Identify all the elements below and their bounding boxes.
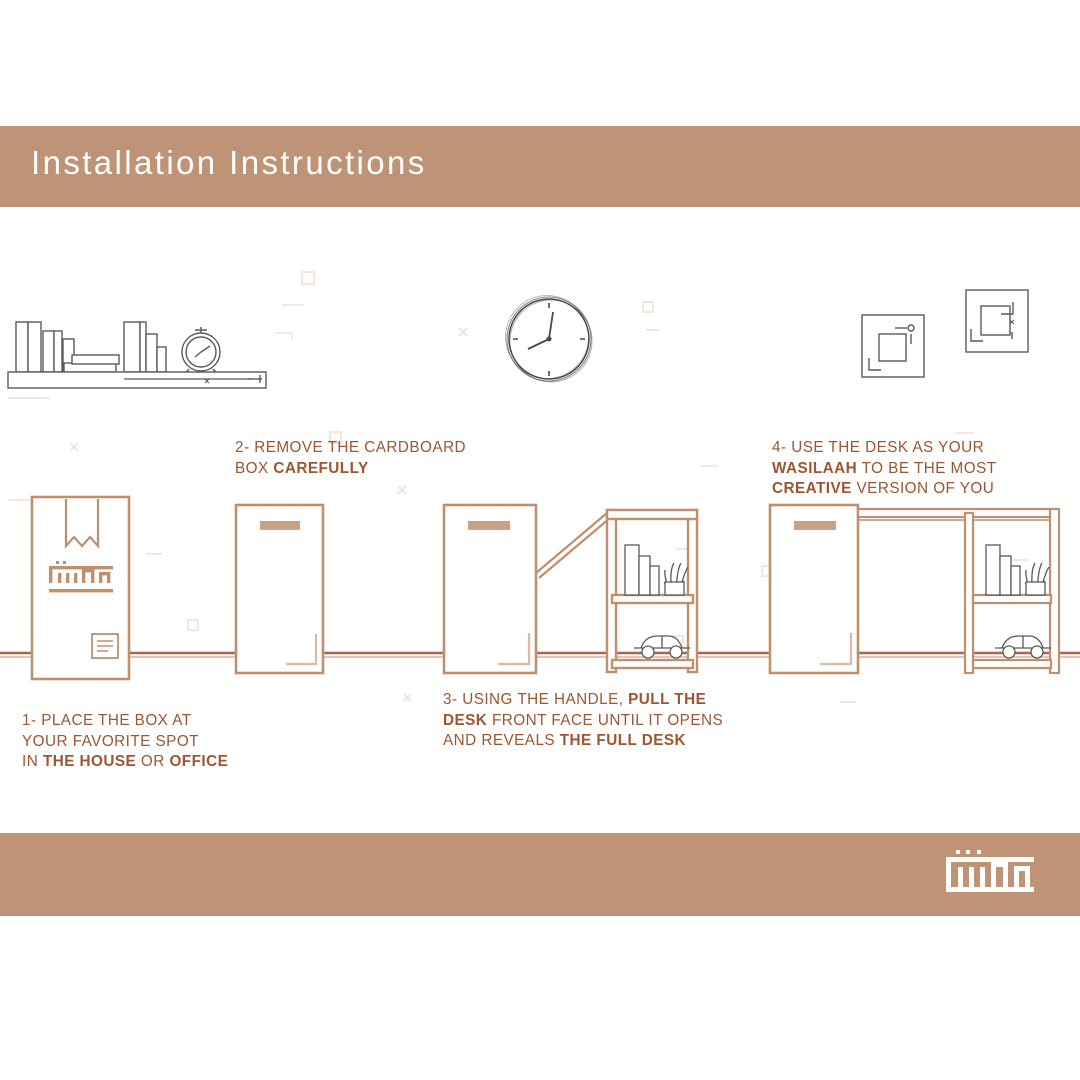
caption-emphasis: OFFICE	[169, 753, 228, 770]
caption-emphasis: THE HOUSE	[43, 753, 136, 770]
page-title: Installation Instructions	[31, 144, 427, 182]
caption-emphasis: CAREFULLY	[273, 460, 368, 477]
picture-frames-illustration	[862, 290, 1028, 377]
infographic-page: Installation Instructions 1- PLACE THE B…	[0, 0, 1080, 1080]
step-1-caption: 1- PLACE THE BOX AT YOUR FAVORITE SPOT I…	[22, 711, 322, 773]
wall-clock-illustration	[506, 296, 593, 383]
caption-text: VERSION OF YOU	[852, 480, 994, 497]
step-2-caption: 2- REMOVE THE CARDBOARD BOX CAREFULLY	[235, 438, 535, 479]
wasilaah-logo	[944, 847, 1036, 902]
caption-text: OR	[136, 753, 169, 770]
wall-shelf-illustration	[8, 322, 266, 388]
caption-emphasis: WASILAAH	[772, 460, 857, 477]
desk-closed-illustration	[236, 505, 323, 673]
caption-emphasis: CREATIVE	[772, 480, 852, 497]
caption-text: 4- USE THE DESK AS YOUR	[772, 439, 984, 456]
cardboard-box-illustration	[32, 497, 129, 679]
caption-text: TO BE THE MOST	[857, 460, 996, 477]
desk-opening-illustration	[444, 505, 610, 673]
caption-emphasis: THE FULL DESK	[560, 732, 686, 749]
step-3-caption: 3- USING THE HANDLE, PULL THE DESK FRONT…	[443, 690, 773, 752]
caption-text: 3- USING THE HANDLE,	[443, 691, 628, 708]
step-4-caption: 4- USE THE DESK AS YOUR WASILAAH TO BE T…	[772, 438, 1072, 500]
footer-band	[0, 833, 1080, 916]
floor-line	[0, 653, 1080, 657]
